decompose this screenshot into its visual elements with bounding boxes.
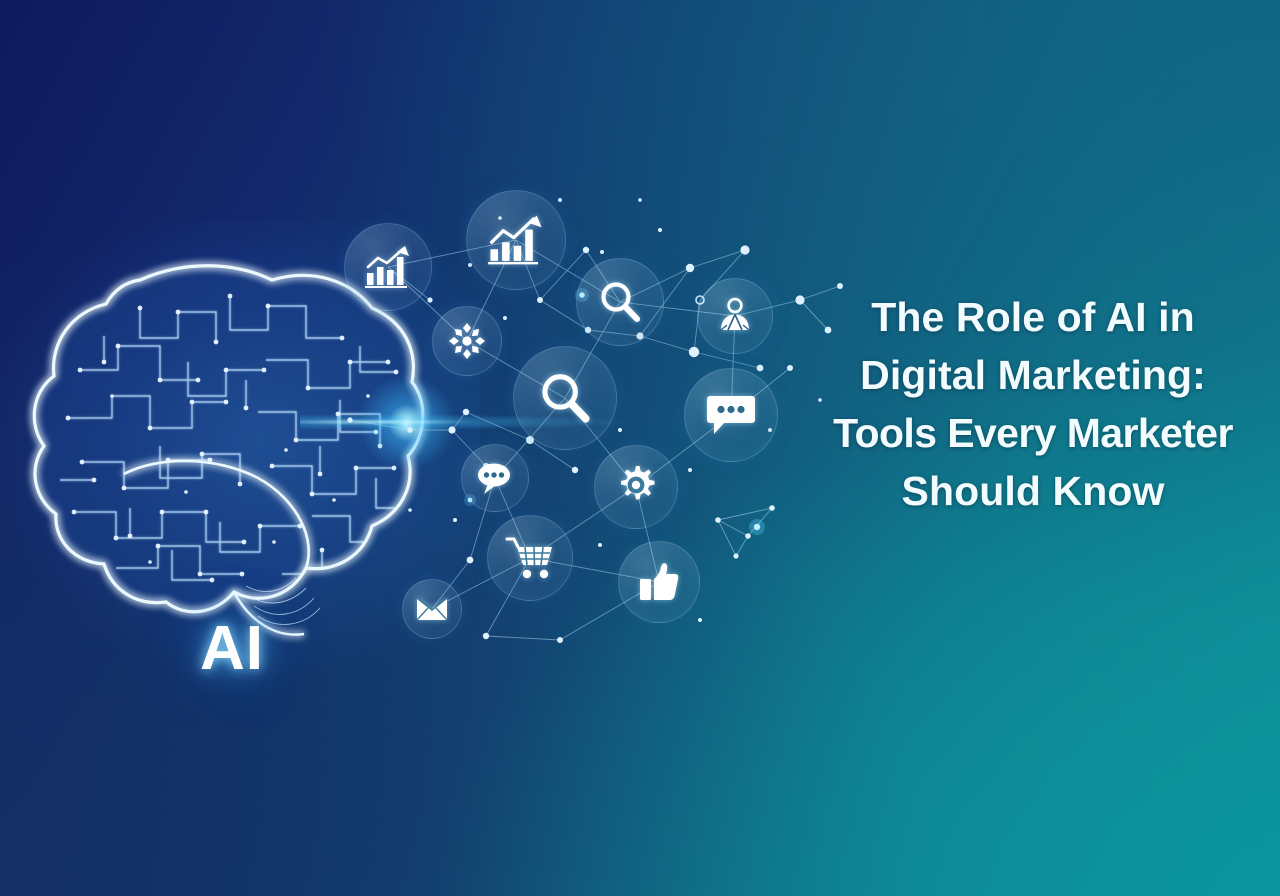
- bar-chart-growth-glyph-2: [487, 214, 545, 266]
- search-icon[interactable]: [576, 258, 664, 346]
- user-profile-glyph: [715, 296, 755, 336]
- bar-chart-growth-icon-2[interactable]: [466, 190, 566, 290]
- chat-bubble-icon[interactable]: [684, 368, 778, 462]
- envelope-icon[interactable]: [402, 579, 462, 639]
- shopping-cart-glyph: [505, 535, 555, 581]
- thumbs-up-glyph: [637, 560, 681, 604]
- title-line-4: Should Know: [798, 462, 1268, 520]
- bar-chart-growth-glyph: [363, 245, 413, 289]
- hero-banner: AI: [0, 0, 1280, 896]
- gear-icon[interactable]: [594, 445, 678, 529]
- user-profile-icon[interactable]: [697, 278, 773, 354]
- chat-bubble-glyph-2: [475, 460, 515, 496]
- shopping-cart-icon[interactable]: [487, 515, 573, 601]
- network-node-glyph: [447, 321, 487, 361]
- bar-chart-growth-icon[interactable]: [344, 223, 432, 311]
- network-node-icon[interactable]: [432, 306, 502, 376]
- gear-glyph: [613, 464, 659, 510]
- envelope-glyph: [415, 593, 449, 625]
- thumbs-up-icon[interactable]: [618, 541, 700, 623]
- chat-bubble-icon-2[interactable]: [461, 444, 529, 512]
- magnifier-glyph-2: [537, 370, 593, 426]
- title-line-3: Tools Every Marketer: [798, 404, 1268, 462]
- search-icon-2[interactable]: [513, 346, 617, 450]
- magnifier-glyph: [597, 279, 643, 325]
- title-line-1: The Role of AI in: [798, 288, 1268, 346]
- title-line-2: Digital Marketing:: [798, 346, 1268, 404]
- banner-title: The Role of AI in Digital Marketing: Too…: [798, 288, 1268, 520]
- chat-bubble-glyph: [705, 392, 757, 438]
